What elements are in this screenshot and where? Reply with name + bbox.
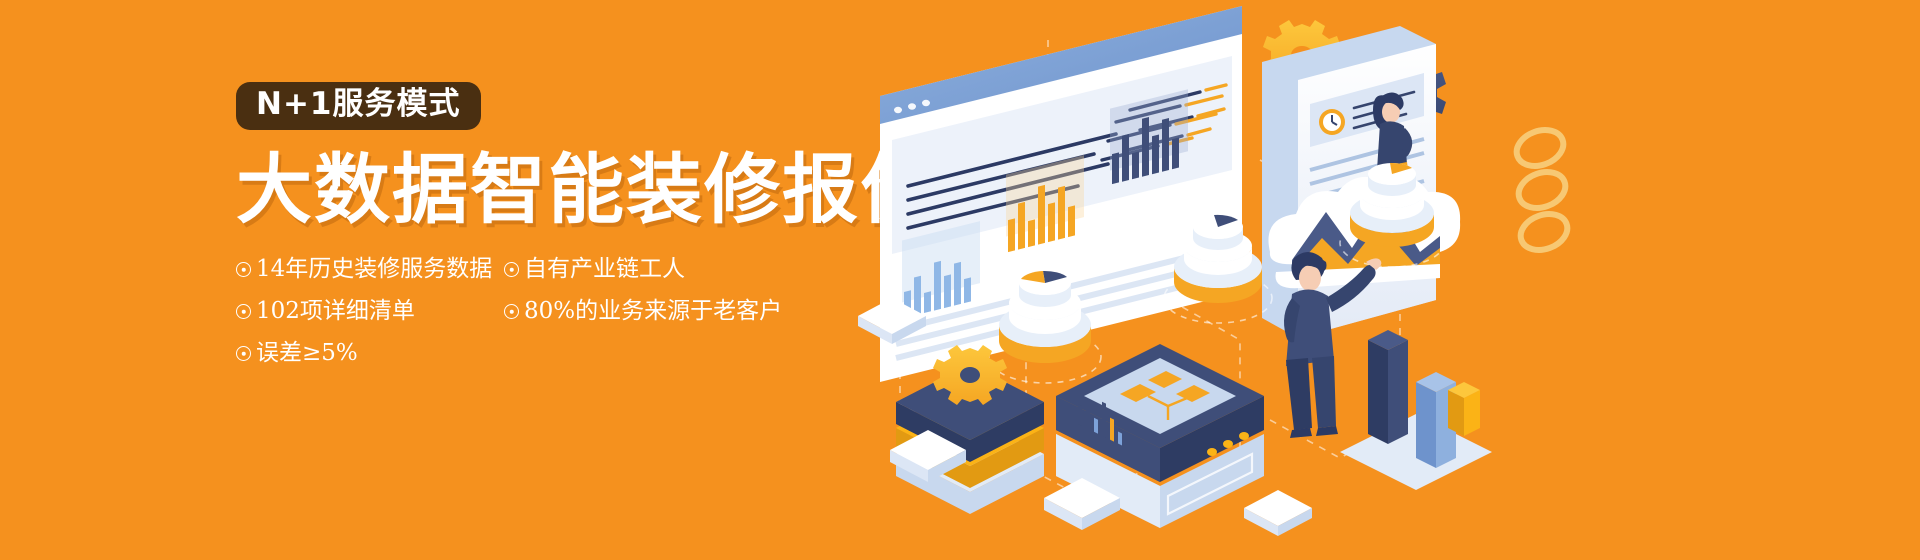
list-item: 14年历史装修服务数据 — [236, 258, 492, 281]
list-item: 80%的业务来源于老客户 — [504, 300, 782, 323]
list-item-label: 误差≥5% — [256, 340, 358, 366]
circled-dot-icon — [236, 262, 251, 277]
hero-banner: N+1服务模式 大数据智能装修报价 14年历史装修服务数据 102项详细清单 误… — [0, 0, 1920, 560]
list-item-label: 102项详细清单 — [256, 298, 415, 324]
list-item-label: 80%的业务来源于老客户 — [524, 298, 782, 324]
feature-bullet-list: 14年历史装修服务数据 102项详细清单 误差≥5% 自有产业链工人 80%的业… — [236, 258, 876, 368]
circled-dot-icon — [504, 304, 519, 319]
list-item: 误差≥5% — [236, 342, 358, 365]
floating-tile — [1244, 490, 1312, 536]
phone-gauge-icon — [1319, 109, 1345, 135]
bar-columns — [1340, 330, 1492, 490]
circled-dot-icon — [236, 304, 251, 319]
list-item-label: 14年历史装修服务数据 — [256, 256, 492, 282]
list-item-label: 自有产业链工人 — [524, 256, 685, 282]
service-model-badge: N+1服务模式 — [236, 82, 481, 130]
ring-stack-icon — [1512, 124, 1573, 256]
list-item: 102项详细清单 — [236, 300, 415, 323]
big-data-isometric-illustration — [840, 0, 1920, 560]
list-item: 自有产业链工人 — [504, 258, 685, 281]
circled-dot-icon — [236, 346, 251, 361]
circled-dot-icon — [504, 262, 519, 277]
